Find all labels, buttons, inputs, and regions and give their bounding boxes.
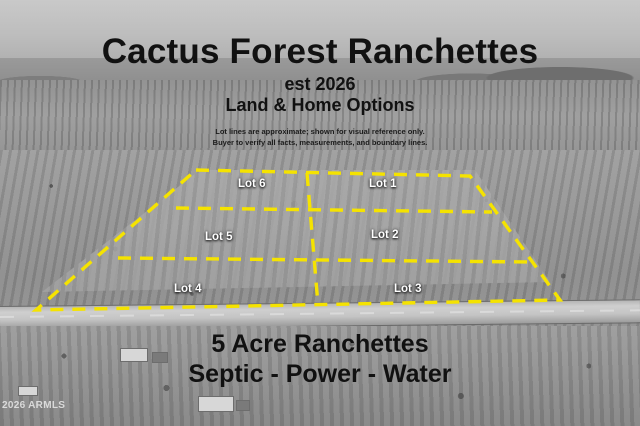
lower-row-divider: [118, 258, 532, 262]
listing-photo: Lot 6 Lot 1 Lot 5 Lot 2 Lot 4 Lot 3 Cact…: [0, 0, 640, 426]
lot-label-5: Lot 5: [205, 231, 232, 243]
disclaimer-line-2: Buyer to verify all facts, measurements,…: [0, 137, 640, 148]
outer-parcel-boundary: [36, 170, 560, 310]
listing-options-subtitle: Land & Home Options: [0, 95, 640, 116]
listing-title: Cactus Forest Ranchettes: [0, 32, 640, 72]
mls-watermark: 2026 ARMLS: [2, 400, 65, 411]
lot-label-3: Lot 3: [394, 283, 421, 295]
lot-label-6: Lot 6: [238, 178, 265, 190]
disclaimer-text: Lot lines are approximate; shown for vis…: [0, 126, 640, 148]
center-divider: [307, 173, 318, 305]
upper-row-divider: [176, 208, 492, 212]
footer-utilities-text: Septic - Power - Water: [0, 360, 640, 389]
footer-acreage-text: 5 Acre Ranchettes: [0, 330, 640, 359]
disclaimer-line-1: Lot lines are approximate; shown for vis…: [0, 126, 640, 137]
lot-label-1: Lot 1: [369, 178, 396, 190]
lot-label-4: Lot 4: [174, 283, 201, 295]
lot-label-2: Lot 2: [371, 229, 398, 241]
listing-established-year: est 2026: [0, 74, 640, 95]
